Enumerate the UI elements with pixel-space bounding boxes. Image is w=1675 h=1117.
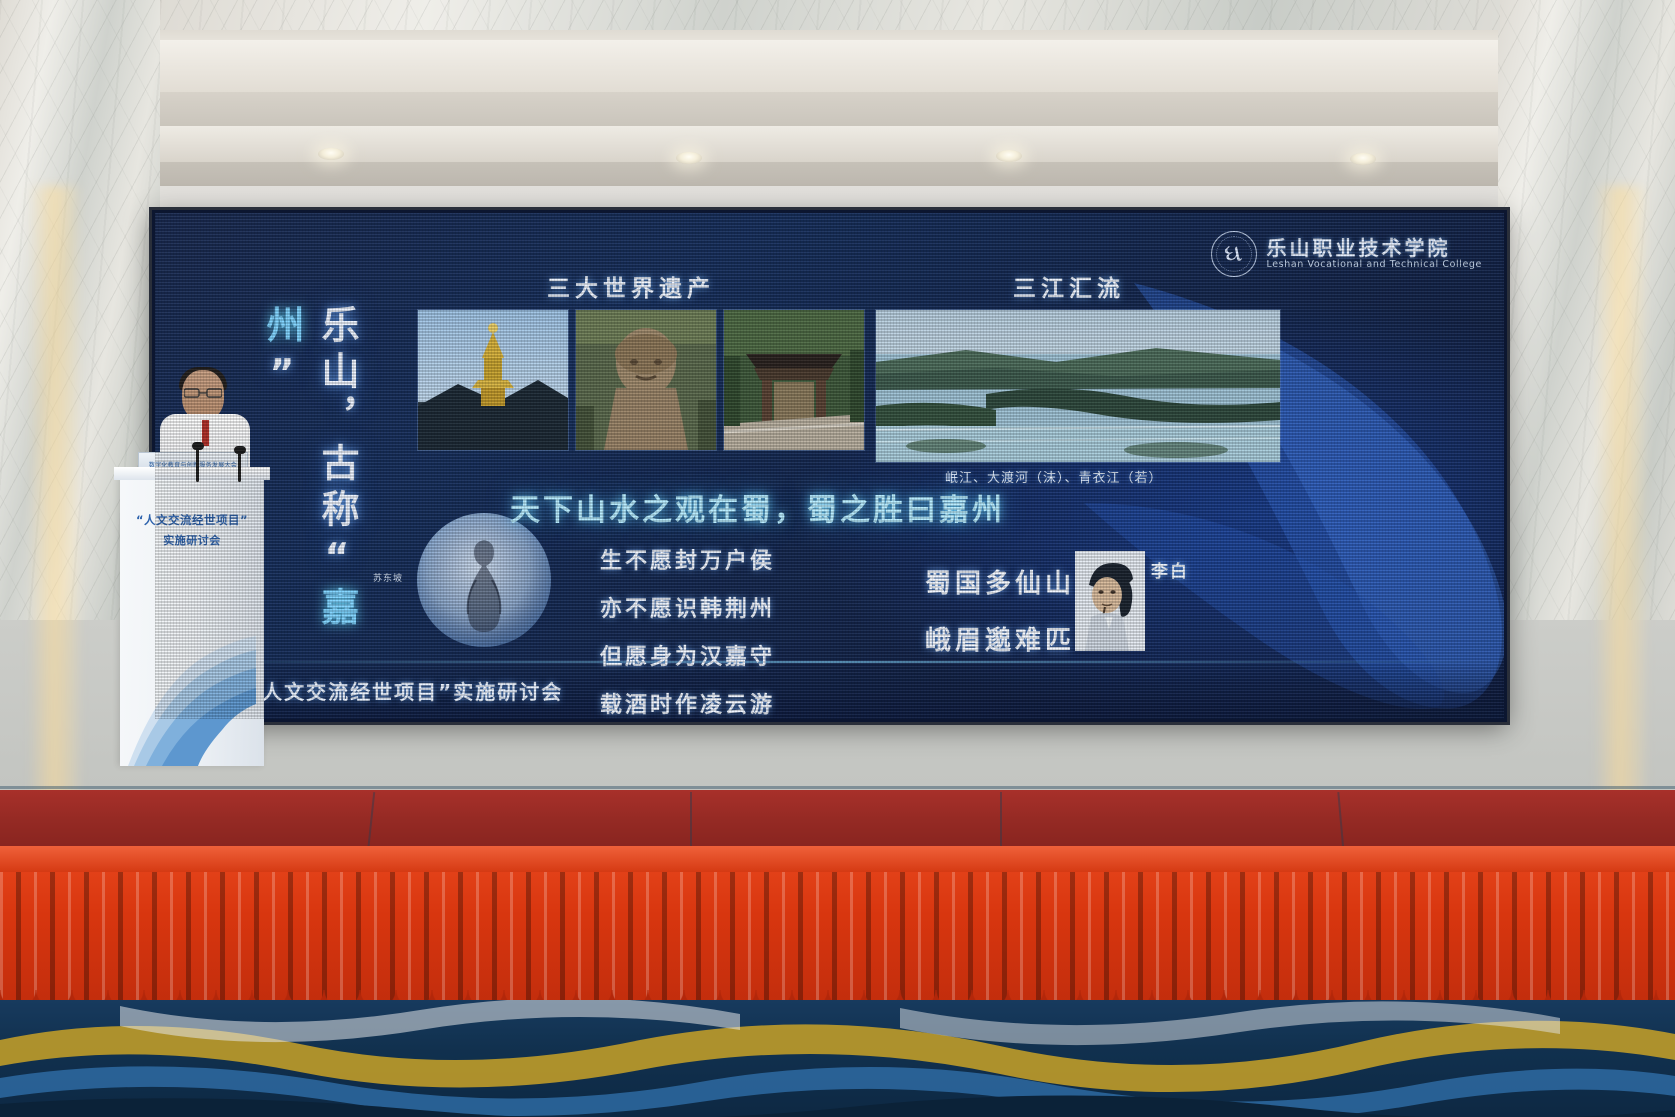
ceiling-downlight	[1350, 153, 1376, 165]
college-name-cn: 乐山职业技术学院	[1267, 237, 1482, 260]
ink-painting-label: 苏东坡	[373, 571, 403, 584]
podium-sign-line2: 实施研讨会	[120, 532, 264, 548]
microphone-head	[234, 446, 246, 454]
stage-deck-edge	[0, 786, 1675, 789]
speaker-badge	[202, 420, 209, 446]
river-caption: 岷江、大渡河（沫）、青衣江（若）	[945, 467, 1163, 486]
marble-panel-top	[160, 0, 1500, 30]
poem-block: 生不愿封万户侯 亦不愿识韩荆州 但愿身为汉嘉守 载酒时作凌云游	[600, 543, 775, 719]
ceiling-downlight	[318, 148, 344, 160]
conference-hall-scene: ધ 乐山职业技术学院 Leshan Vocational and Technic…	[0, 0, 1675, 1117]
poem-line: 但愿身为汉嘉守	[600, 639, 775, 671]
podium-wave-graphic	[128, 616, 256, 766]
college-name-en: Leshan Vocational and Technical College	[1267, 260, 1482, 271]
podium: “人文交流经世项目” 实施研讨会	[120, 476, 264, 766]
carpet-pattern	[0, 1000, 1675, 1117]
poem-line: 载酒时作凌云游	[600, 687, 775, 719]
slide-quote: 天下山水之观在蜀，蜀之胜曰嘉州	[510, 485, 1005, 529]
slide-footer-text: “人文交流经世项目”实施研讨会	[247, 676, 563, 705]
photo-leshan-giant-buddha	[575, 309, 717, 451]
wall-wash-light	[1594, 186, 1646, 806]
microphone-head	[192, 442, 204, 450]
ceiling-downlight	[996, 150, 1022, 162]
led-screen[interactable]: ધ 乐山职业技术学院 Leshan Vocational and Technic…	[152, 210, 1507, 722]
ink-painting-circle	[417, 513, 551, 647]
poem-line: 亦不愿识韩荆州	[600, 591, 775, 623]
ceiling-band	[0, 92, 1675, 126]
photo-three-rivers-confluence	[875, 309, 1281, 463]
college-emblem-icon: ધ	[1211, 231, 1257, 277]
ceiling-band	[0, 126, 1675, 162]
podium-signage: “人文交流经世项目” 实施研讨会	[120, 512, 264, 548]
couplet-block: 蜀国多仙山 峨眉邈难匹	[925, 563, 1075, 677]
podium-top-surface	[114, 467, 270, 480]
portrait-libai	[1075, 551, 1145, 651]
ceiling-downlight	[676, 152, 702, 164]
podium-sign-line1: “人文交流经世项目”	[120, 512, 264, 528]
glasses-icon	[184, 388, 222, 398]
vtitle-part3: ”	[260, 351, 304, 403]
slide-vertical-title: 乐山，古称“嘉州”	[255, 305, 365, 719]
couplet-line: 蜀国多仙山	[925, 563, 1075, 600]
microphone-stem	[196, 448, 199, 482]
carpet	[0, 1000, 1675, 1117]
photo-mount-emei-path	[723, 309, 865, 451]
photo-emei-golden-summit	[417, 309, 569, 451]
stage-deck-seam	[690, 792, 692, 854]
stage-skirt-valance	[0, 846, 1675, 872]
marble-panel-right	[1498, 0, 1675, 620]
stage-deck-seam	[1000, 792, 1002, 854]
section-heading-rivers: 三江汇流	[1013, 269, 1125, 303]
couplet-line: 峨眉邈难匹	[925, 620, 1075, 657]
college-logo: ધ 乐山职业技术学院 Leshan Vocational and Technic…	[1211, 231, 1482, 277]
vtitle-part1: 乐山，古称“	[315, 305, 359, 587]
wall-wash-light	[28, 186, 80, 806]
poem-line: 生不愿封万户侯	[600, 543, 775, 575]
section-heading-heritage: 三大世界遗产	[547, 269, 715, 303]
portrait-name-libai: 李白	[1151, 557, 1189, 582]
microphone-stem	[238, 452, 241, 482]
ceiling-band	[0, 40, 1675, 92]
slide-canvas: ધ 乐山职业技术学院 Leshan Vocational and Technic…	[155, 213, 1504, 719]
scholar-figure-icon	[454, 534, 514, 632]
